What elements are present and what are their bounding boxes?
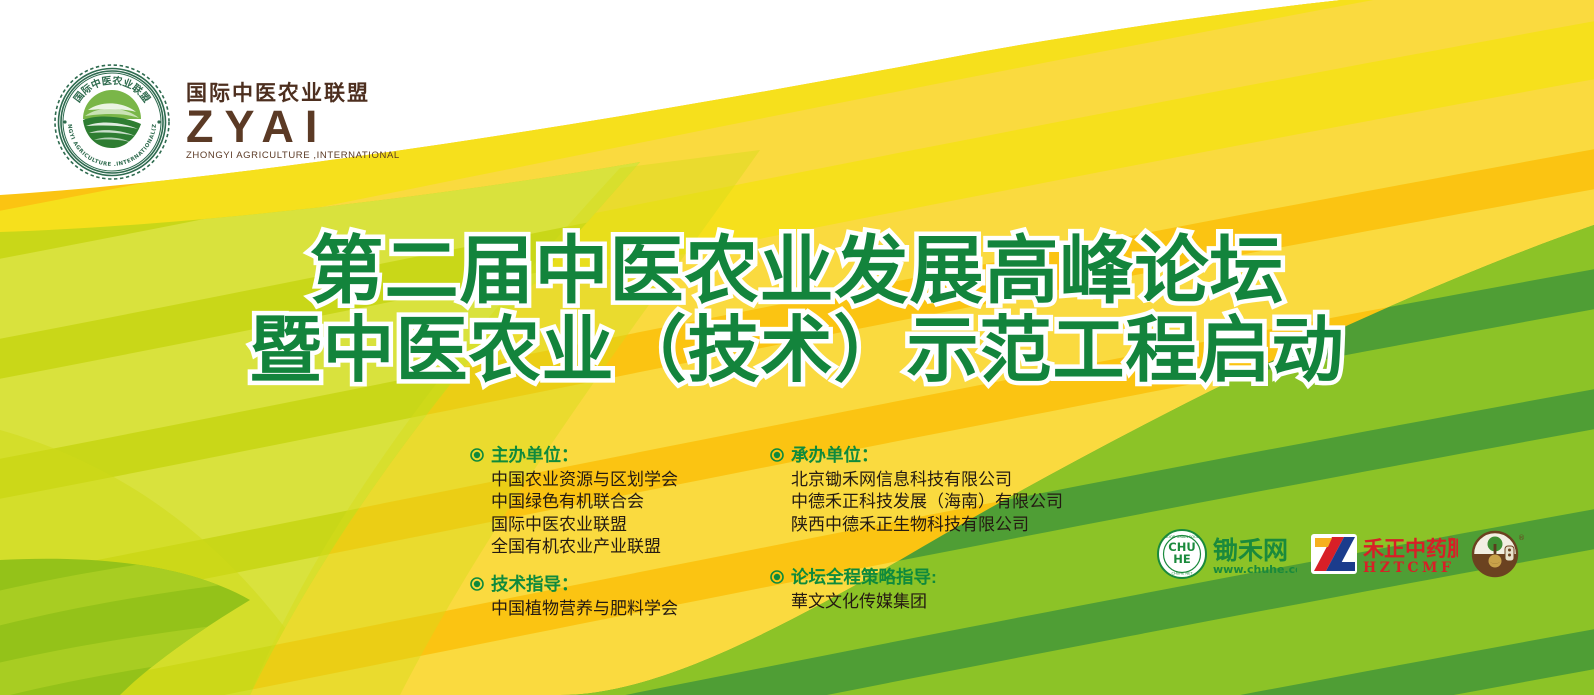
logo-abbr: ZYAI	[186, 106, 400, 149]
circle-dot-bullet-icon	[770, 570, 784, 584]
info-group: 技术指导： 中国植物营养与肥料学会	[470, 573, 720, 620]
info-item: 中国绿色有机联合会	[491, 491, 720, 514]
info-item: 全国有机农业产业联盟	[491, 536, 720, 559]
svg-text:CHUHE NET: CHUHE NET	[1171, 572, 1193, 576]
info-item: 中德禾正科技发展（海南）有限公司	[791, 491, 1070, 514]
tree-root-trademark: ®	[1518, 534, 1525, 542]
info-item-list: 北京锄禾网信息科技有限公司 中德禾正科技发展（海南）有限公司 陕西中德禾正生物科…	[791, 469, 1070, 537]
info-column-left: 主办单位： 中国农业资源与区划学会 中国绿色有机联合会 国际中医农业联盟 全国有…	[470, 444, 720, 634]
tree-root-sponsor-logo: ®	[1471, 528, 1527, 580]
circle-dot-bullet-icon	[470, 577, 484, 591]
circle-dot-bullet-icon	[770, 448, 784, 462]
event-banner: 国际中医农业联盟 ZHONGYI AGRICULTURE .INTERNATIO…	[0, 0, 1594, 695]
chuhe-sponsor-logo: CHU HE GOOD GRAIN FOOD CHUHE NET 锄禾网 www…	[1155, 527, 1297, 581]
svg-text:GOOD GRAIN FOOD: GOOD GRAIN FOOD	[1164, 535, 1200, 539]
info-heading-label: 技术指导：	[491, 573, 579, 597]
hztcmf-sponsor-logo: 禾正中药肥 ® HZTCMF	[1310, 529, 1458, 579]
info-item-list: 華文文化传媒集团	[791, 591, 1070, 614]
info-group: 论坛全程策略指导: 華文文化传媒集团	[770, 566, 1070, 613]
hztcmf-name-cn: 禾正中药肥	[1363, 537, 1458, 561]
chuhe-url: www.chuhe.com	[1213, 563, 1297, 576]
info-column-right: 承办单位： 北京锄禾网信息科技有限公司 中德禾正科技发展（海南）有限公司 陕西中…	[770, 444, 1070, 634]
tree-root-circle-icon	[1473, 532, 1517, 576]
info-group-heading: 承办单位：	[770, 444, 1070, 468]
info-item-list: 中国植物营养与肥料学会	[491, 598, 720, 621]
hztcmf-z-mark-icon	[1311, 534, 1357, 574]
info-item: 中国植物营养与肥料学会	[491, 598, 720, 621]
info-item: 国际中医农业联盟	[491, 514, 720, 537]
info-item-list: 中国农业资源与区划学会 中国绿色有机联合会 国际中医农业联盟 全国有机农业产业联…	[491, 469, 720, 559]
info-item: 陕西中德禾正生物科技有限公司	[791, 514, 1070, 537]
chuhe-name-cn: 锄禾网	[1213, 536, 1288, 565]
organizer-info: 主办单位： 中国农业资源与区划学会 中国绿色有机联合会 国际中医农业联盟 全国有…	[470, 444, 1070, 634]
logo-wordmark: 国际中医农业联盟 ZYAI ZHONGYI AGRICULTURE ,INTER…	[186, 83, 400, 160]
info-group-heading: 主办单位：	[470, 444, 720, 468]
info-group-heading: 论坛全程策略指导:	[770, 566, 1070, 590]
info-heading-label: 论坛全程策略指导:	[791, 566, 937, 590]
chuhe-leaf-circle-icon: CHU HE GOOD GRAIN FOOD CHUHE NET	[1158, 530, 1206, 578]
info-group-heading: 技术指导：	[470, 573, 720, 597]
info-item: 中国农业资源与区划学会	[491, 469, 720, 492]
logo-name-en: ZHONGYI AGRICULTURE ,INTERNATIONAL	[186, 151, 400, 161]
organization-logo-lockup: 国际中医农业联盟 ZHONGYI AGRICULTURE .INTERNATIO…	[52, 62, 400, 182]
info-heading-label: 主办单位：	[491, 444, 579, 468]
hztcmf-trademark: ®	[1447, 536, 1454, 544]
svg-text:HE: HE	[1173, 552, 1191, 566]
zyai-circular-seal-icon: 国际中医农业联盟 ZHONGYI AGRICULTURE .INTERNATIO…	[52, 62, 172, 182]
info-item: 華文文化传媒集团	[791, 591, 1070, 614]
circle-dot-bullet-icon	[470, 448, 484, 462]
info-group: 承办单位： 北京锄禾网信息科技有限公司 中德禾正科技发展（海南）有限公司 陕西中…	[770, 444, 1070, 536]
hztcmf-name-en: HZTCMF	[1363, 560, 1454, 576]
info-item: 北京锄禾网信息科技有限公司	[791, 469, 1070, 492]
info-group: 主办单位： 中国农业资源与区划学会 中国绿色有机联合会 国际中医农业联盟 全国有…	[470, 444, 720, 559]
sponsor-logo-row: CHU HE GOOD GRAIN FOOD CHUHE NET 锄禾网 www…	[1155, 527, 1527, 581]
info-heading-label: 承办单位：	[791, 444, 879, 468]
